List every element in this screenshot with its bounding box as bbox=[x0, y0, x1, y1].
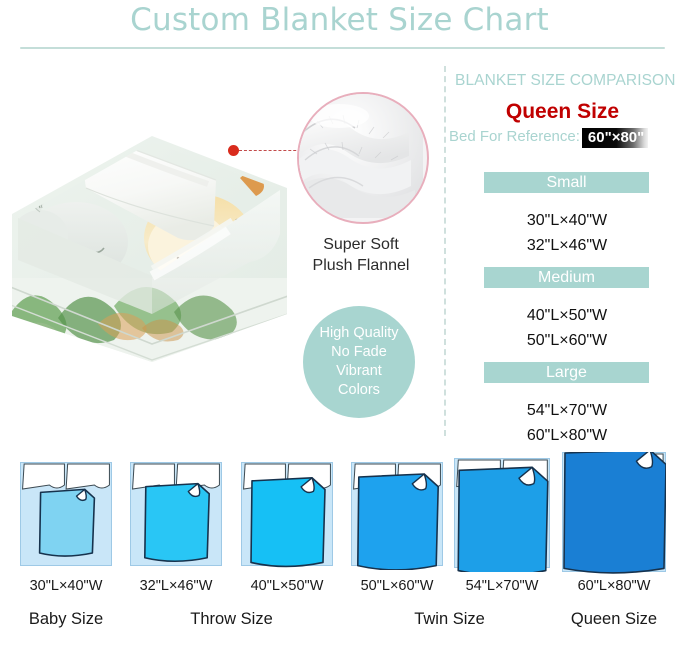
quality-badge: High Quality No Fade Vibrant Colors bbox=[303, 306, 415, 418]
title-divider bbox=[20, 47, 665, 49]
quality-line1: High Quality bbox=[320, 324, 399, 343]
bed-diagram bbox=[241, 462, 333, 570]
size-row: 60"L×80"W bbox=[455, 423, 679, 448]
bed-diagram bbox=[20, 462, 112, 570]
quality-line4: Colors bbox=[320, 381, 399, 400]
size-rows-small: 30"L×40"W 32"L×46"W bbox=[455, 208, 679, 258]
infographic-root: Custom Blanket Size Chart bbox=[0, 0, 679, 645]
bed-dimension-label: 40"L×50"W bbox=[227, 578, 347, 594]
size-row: 40"L×50"W bbox=[455, 303, 679, 328]
blanket-stack bbox=[2, 118, 292, 368]
panel-divider bbox=[444, 66, 446, 436]
size-row: 32"L×46"W bbox=[455, 233, 679, 258]
quality-line3: Vibrant bbox=[320, 362, 399, 381]
bed-reference-row: Bed For Reference:60"×80" bbox=[449, 128, 679, 148]
bed-comparison-strip: 30"L×40"W32"L×46"W40"L×50"W50"L×60"W54"L… bbox=[0, 452, 679, 645]
bed-group-label: Twin Size bbox=[370, 610, 530, 629]
bed-group-label: Throw Size bbox=[152, 610, 312, 629]
callout-dot-icon bbox=[228, 145, 239, 156]
bed-group-label: Queen Size bbox=[534, 610, 679, 629]
bed-diagram bbox=[351, 462, 443, 570]
size-band-medium: Medium bbox=[484, 267, 649, 288]
size-row: 54"L×70"W bbox=[455, 398, 679, 423]
bed-dimension-label: 50"L×60"W bbox=[337, 578, 457, 594]
bed-dimension-label: 32"L×46"W bbox=[116, 578, 236, 594]
bed-dimension-label: 30"L×40"W bbox=[6, 578, 126, 594]
bed-group-label: Baby Size bbox=[0, 610, 146, 629]
bed-dimension-label: 54"L×70"W bbox=[440, 578, 564, 594]
plush-flannel-zoom-circle bbox=[297, 92, 429, 224]
size-band-large: Large bbox=[484, 362, 649, 383]
featured-size-label: Queen Size bbox=[455, 100, 670, 124]
bed-reference-label: Bed For Reference: bbox=[449, 128, 580, 145]
flannel-caption: Super Soft Plush Flannel bbox=[290, 234, 432, 276]
size-rows-large: 54"L×70"W 60"L×80"W bbox=[455, 398, 679, 448]
bed-diagram bbox=[454, 458, 550, 572]
bed-dimension-label: 60"L×80"W bbox=[548, 578, 679, 594]
page-title: Custom Blanket Size Chart bbox=[0, 2, 679, 38]
size-row: 50"L×60"W bbox=[455, 328, 679, 353]
product-photo-folded-blanket bbox=[2, 118, 292, 368]
flannel-caption-line1: Super Soft bbox=[290, 234, 432, 255]
bed-diagram bbox=[562, 452, 666, 576]
comparison-panel-heading: BLANKET SIZE COMPARISON bbox=[455, 72, 679, 90]
flannel-caption-line2: Plush Flannel bbox=[290, 255, 432, 276]
size-rows-medium: 40"L×50"W 50"L×60"W bbox=[455, 303, 679, 353]
size-row: 30"L×40"W bbox=[455, 208, 679, 233]
bed-reference-value: 60"×80" bbox=[582, 128, 648, 148]
quality-line2: No Fade bbox=[320, 343, 399, 362]
size-band-small: Small bbox=[484, 172, 649, 193]
bed-diagram bbox=[130, 462, 222, 570]
